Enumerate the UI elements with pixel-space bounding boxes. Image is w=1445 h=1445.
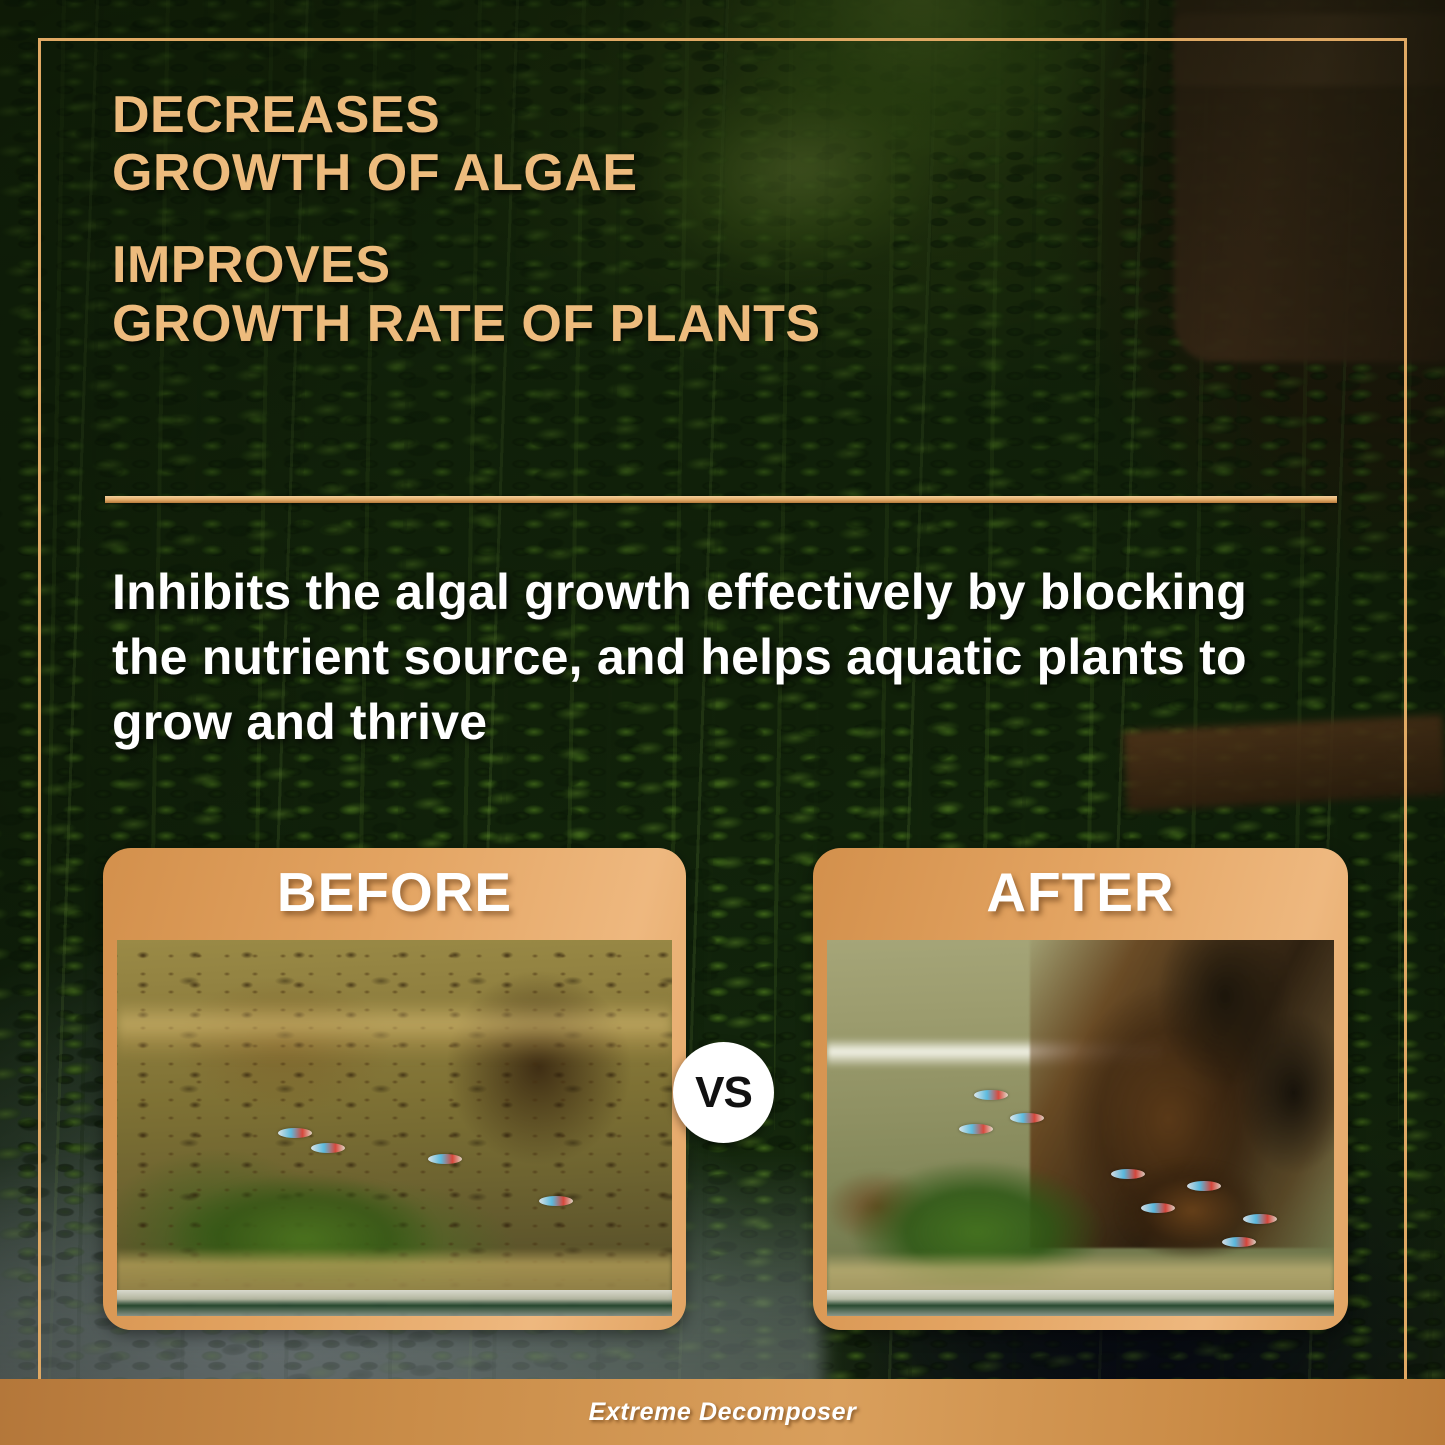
vs-badge: VS bbox=[673, 1042, 774, 1143]
before-card-label: BEFORE bbox=[103, 860, 686, 924]
before-aquarium-photo bbox=[117, 940, 672, 1316]
after-card-label: AFTER bbox=[813, 860, 1348, 924]
headline-line-4: GROWTH RATE OF PLANTS bbox=[112, 295, 1292, 353]
headline-line-3: IMPROVES bbox=[112, 236, 1292, 294]
headline-group-decreases: DECREASES GROWTH OF ALGAE bbox=[112, 86, 1292, 202]
headline-line-1: DECREASES bbox=[112, 86, 1292, 144]
after-card: AFTER bbox=[813, 848, 1348, 1330]
headline-group-improves: IMPROVES GROWTH RATE OF PLANTS bbox=[112, 236, 1292, 352]
poster-content: DECREASES GROWTH OF ALGAE IMPROVES GROWT… bbox=[0, 0, 1445, 1445]
headline-line-2: GROWTH OF ALGAE bbox=[112, 144, 1292, 202]
gold-divider-rule bbox=[105, 496, 1337, 503]
before-card: BEFORE bbox=[103, 848, 686, 1330]
body-description-text: Inhibits the algal growth effectively by… bbox=[112, 560, 1312, 755]
after-photo-fish-2 bbox=[1010, 1113, 1044, 1123]
before-photo-light-streak bbox=[117, 1000, 672, 1060]
before-photo-fish-1 bbox=[278, 1128, 312, 1138]
after-aquarium-photo bbox=[827, 940, 1334, 1316]
after-photo-fish-5 bbox=[1187, 1181, 1221, 1191]
footer-brand-bar: Extreme Decomposer bbox=[0, 1379, 1445, 1445]
footer-brand-name: Extreme Decomposer bbox=[589, 1398, 857, 1427]
vs-badge-label: VS bbox=[695, 1068, 752, 1118]
product-feature-poster: DECREASES GROWTH OF ALGAE IMPROVES GROWT… bbox=[0, 0, 1445, 1445]
after-photo-tank-glass-edge bbox=[827, 1290, 1334, 1316]
before-photo-tank-glass-edge bbox=[117, 1290, 672, 1316]
headline-block: DECREASES GROWTH OF ALGAE IMPROVES GROWT… bbox=[112, 86, 1292, 353]
before-photo-fish-4 bbox=[539, 1196, 573, 1206]
